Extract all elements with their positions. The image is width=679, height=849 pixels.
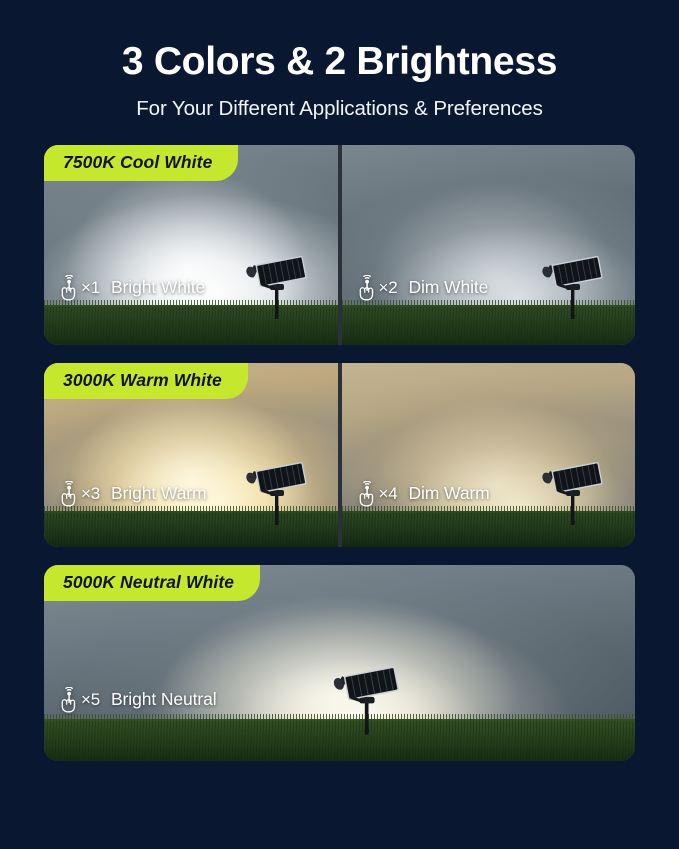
header: 3 Colors & 2 Brightness For Your Differe…: [0, 0, 679, 121]
tap-gesture-icon: [58, 481, 80, 507]
solar-spotlight-fixture: [240, 253, 314, 319]
press-count: ×5: [81, 690, 100, 710]
temperature-badge-3000k: 3000K Warm White: [44, 363, 248, 399]
mode-label: Dim Warm: [408, 483, 489, 504]
tap-gesture-icon: [58, 275, 80, 301]
mode-label: Bright White: [111, 277, 205, 298]
page-subtitle: For Your Different Applications & Prefer…: [0, 97, 679, 121]
caption-dim-warm: ×4 Dim Warm: [356, 481, 490, 507]
mode-label: Dim White: [408, 277, 488, 298]
scene-panel-dim-white: ×2 Dim White: [342, 145, 636, 345]
color-card-warm-white: ×3 Bright Warm: [44, 363, 635, 547]
mode-label: Bright Warm: [111, 483, 206, 504]
solar-lamp-icon: [327, 663, 407, 735]
press-count: ×1: [81, 278, 100, 298]
color-card-neutral-white: ×5 Bright Neutral 5000K Neutral White: [44, 565, 635, 761]
press-count: ×2: [379, 278, 398, 298]
caption-bright-warm: ×3 Bright Warm: [58, 481, 206, 507]
caption-dim-white: ×2 Dim White: [356, 275, 489, 301]
infographic-page: 3 Colors & 2 Brightness For Your Differe…: [0, 0, 679, 849]
solar-spotlight-fixture: [536, 253, 610, 319]
caption-bright-white: ×1 Bright White: [58, 275, 205, 301]
tap-gesture-icon: [356, 481, 378, 507]
press-count: ×4: [379, 484, 398, 504]
caption-bright-neutral: ×5 Bright Neutral: [58, 687, 217, 713]
solar-lamp-icon: [536, 253, 610, 319]
page-title: 3 Colors & 2 Brightness: [0, 42, 679, 83]
scene-panel-dim-warm: ×4 Dim Warm: [342, 363, 636, 547]
temperature-badge-7500k: 7500K Cool White: [44, 145, 238, 181]
solar-lamp-icon: [240, 459, 314, 525]
tap-gesture-icon: [356, 275, 378, 301]
color-card-cool-white: ×1 Bright White: [44, 145, 635, 345]
temperature-badge-5000k: 5000K Neutral White: [44, 565, 260, 601]
solar-spotlight-fixture: [240, 459, 314, 525]
tap-gesture-icon: [58, 687, 80, 713]
mode-label: Bright Neutral: [111, 689, 217, 710]
card-list: ×1 Bright White: [0, 145, 679, 761]
solar-spotlight-fixture: [327, 663, 407, 735]
solar-lamp-icon: [536, 459, 610, 525]
solar-spotlight-fixture: [536, 459, 610, 525]
press-count: ×3: [81, 484, 100, 504]
solar-lamp-icon: [240, 253, 314, 319]
